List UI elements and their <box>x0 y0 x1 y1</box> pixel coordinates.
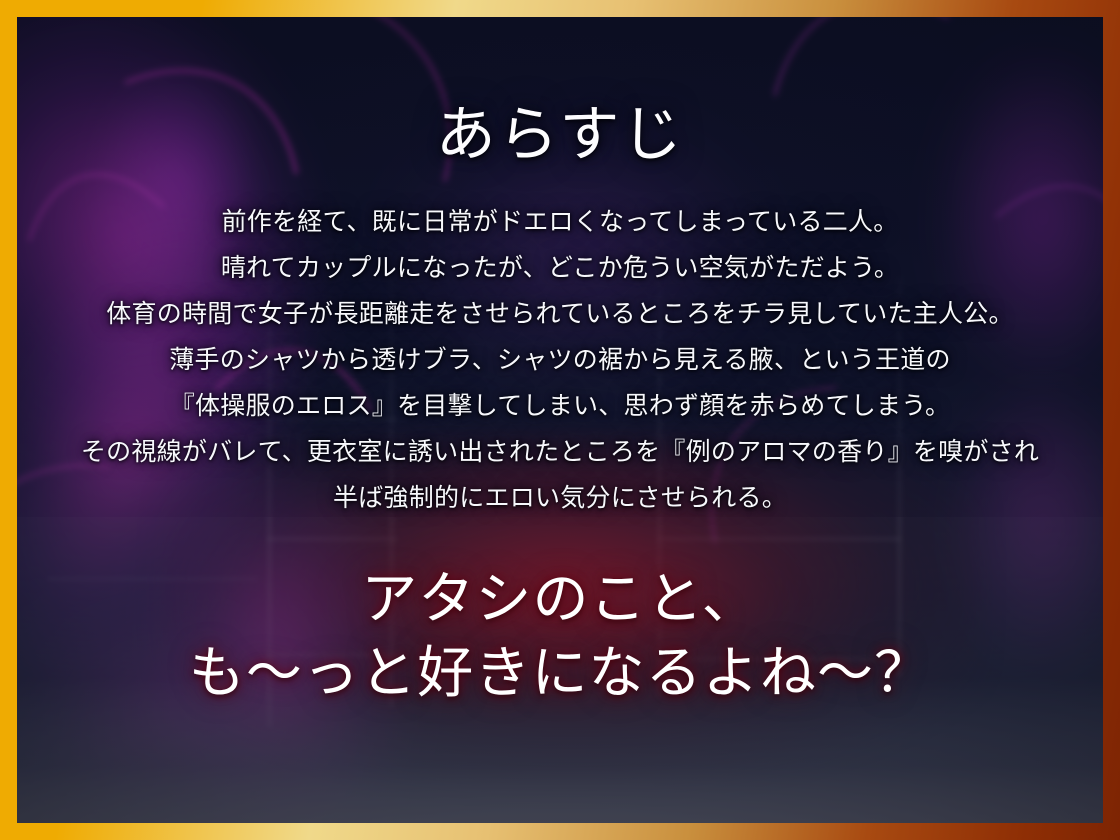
text-content: あらすじ 前作を経て、既に日常がドエロくなってしまっている二人。 晴れてカップル… <box>17 17 1103 823</box>
synopsis-line: その視線がバレて、更衣室に誘い出されたところを『例のアロマの香り』を嗅がされ <box>81 429 1039 475</box>
artwork-panel: あらすじ 前作を経て、既に日常がドエロくなってしまっている二人。 晴れてカップル… <box>17 17 1103 823</box>
synopsis-line: 薄手のシャツから透けブラ、シャツの裾から見える腋、という王道の <box>169 337 951 383</box>
synopsis-line: 『体操服のエロス』を目撃してしまい、思わず顔を赤らめてしまう。 <box>170 383 951 429</box>
synopsis-line: 半ば強制的にエロい気分にさせられる。 <box>333 475 787 521</box>
synopsis-line: 晴れてカップルになったが、どこか危うい空気がただよう。 <box>221 245 899 291</box>
gold-frame: あらすじ 前作を経て、既に日常がドエロくなってしまっている二人。 晴れてカップル… <box>0 0 1120 840</box>
synopsis-block: 前作を経て、既に日常がドエロくなってしまっている二人。 晴れてカップルになったが… <box>81 199 1039 521</box>
synopsis-line: 体育の時間で女子が長距離走をさせられているところをチラ見していた主人公。 <box>106 291 1014 337</box>
quote-line: アタシのこと、 <box>361 563 759 637</box>
quote-line: も〜っと好きになるよね〜？ <box>189 637 932 711</box>
synopsis-line: 前作を経て、既に日常がドエロくなってしまっている二人。 <box>221 199 898 245</box>
page-title: あらすじ <box>436 105 684 165</box>
quote-block: アタシのこと、 も〜っと好きになるよね〜？ <box>189 563 932 711</box>
